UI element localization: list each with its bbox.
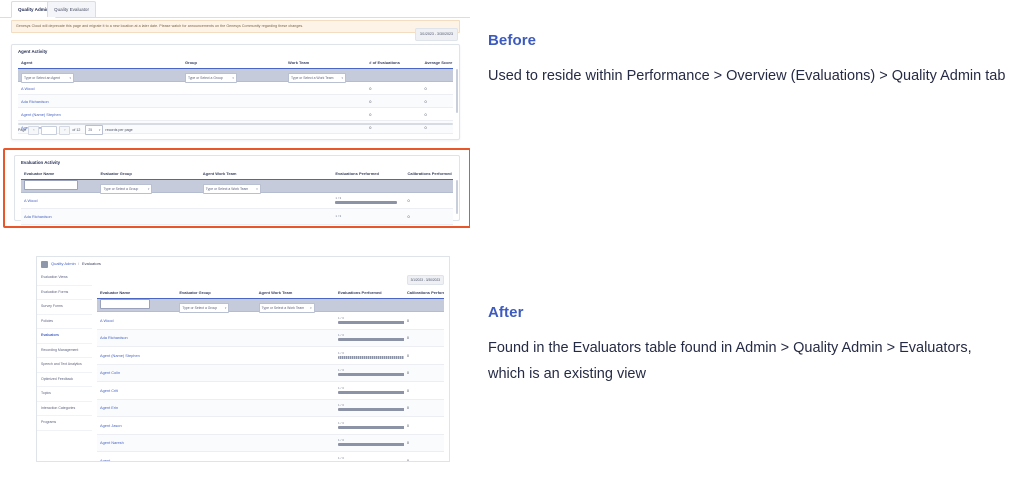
filter-agent-work-team-cell: Type or Select a Work Team ▾: [200, 177, 333, 195]
cell-agent-name[interactable]: Agent (Name) Stephen: [18, 112, 182, 117]
evaluations-value: 1 / 3: [338, 369, 404, 372]
table-row[interactable]: A Wood 1 / 3 0: [21, 193, 453, 209]
evaluations-value: 1 / 3: [338, 352, 404, 355]
col-work-team: Work Team: [285, 60, 366, 65]
progress-bar-fill: [338, 321, 404, 324]
evaluations-progress: 1 / 3: [338, 404, 404, 411]
sidebar-item-recording-management[interactable]: Recording Management: [37, 344, 92, 359]
cell-calibrations-performed: 0: [404, 440, 444, 445]
table-row[interactable]: A Wood 1 / 3 0: [97, 312, 444, 330]
col-agent-work-team: Agent Work Team: [256, 290, 335, 295]
filter-agent-work-team-value: Type or Select a Work Team: [262, 306, 304, 310]
evaluations-value: 1 / 3: [338, 422, 404, 425]
sidebar-item-interaction-categories[interactable]: Interaction Categories: [37, 402, 92, 417]
evaluators-grid: Evaluator Name Evaluator Group Agent Wor…: [97, 287, 444, 462]
filter-agent-value: Type or Select an Agent: [24, 76, 60, 80]
chevron-down-icon: ▾: [341, 76, 343, 80]
filter-work-team-value: Type or Select a Work Team: [291, 76, 333, 80]
annotation-before-body: Used to reside within Performance > Over…: [488, 63, 1005, 89]
cell-evaluator-name[interactable]: Agent Colin: [97, 370, 176, 375]
after-screenshot: Quality Admin / Evaluators Evaluation Vi…: [36, 256, 450, 462]
chevron-down-icon: ▾: [225, 306, 227, 310]
before-screenshot: Quality Admin Quality Evaluator Genesys …: [0, 0, 470, 230]
table-row[interactable]: Agent Naresh 1 / 3 0: [97, 435, 444, 453]
evaluations-progress: 1 / 3: [338, 334, 404, 341]
cell-calibrations-performed: 0: [404, 335, 444, 340]
evaluations-progress: 1 / 3: [338, 422, 404, 429]
evaluations-progress: 1 / 3: [335, 215, 397, 218]
slide-canvas: Quality Admin Quality Evaluator Genesys …: [0, 0, 1024, 496]
date-range-filter[interactable]: 3/1/2023 - 3/30/2023: [415, 28, 458, 41]
progress-bar-fill: [338, 408, 404, 411]
progress-bar-fill: [338, 391, 404, 394]
cell-evaluations: 0: [366, 112, 421, 117]
cell-evaluator-name[interactable]: Agent Criti: [97, 388, 176, 393]
filter-agent-work-team-select[interactable]: Type or Select a Work Team ▾: [259, 303, 315, 313]
annotation-after: After Found in the Evaluators table foun…: [488, 304, 1008, 387]
filter-agent-cell: Type or Select an Agent ▾: [18, 66, 182, 84]
pagination-control: Page ‹ › of 12 25 ▾ records per page: [18, 125, 133, 135]
col-agent: Agent: [18, 60, 182, 65]
sidebar-item-speech-and-text-analytics[interactable]: Speech and Text Analytics: [37, 358, 92, 373]
col-calibrations-performed: Calibrations Performed: [405, 171, 454, 176]
sidebar-item-policies[interactable]: Policies: [37, 315, 92, 330]
cell-average-score: 0: [421, 86, 453, 91]
filter-group-value: Type or Select a Group: [188, 76, 223, 80]
chevron-down-icon: ▾: [69, 76, 71, 80]
cell-evaluator-name[interactable]: Agent Naresh: [97, 440, 176, 445]
agent-activity-title: Agent Activity: [18, 49, 47, 54]
chevron-down-icon: ▾: [256, 187, 258, 191]
page-number-input[interactable]: [41, 126, 57, 135]
filter-work-team-select[interactable]: Type or Select a Work Team ▾: [288, 73, 346, 83]
cell-evaluations-performed: 1 / 3: [335, 422, 404, 429]
page-prev-button[interactable]: ‹: [28, 126, 39, 135]
evaluators-filter-row: Type or Select a Group ▾ Type or Select …: [97, 299, 444, 312]
progress-bar-fill: [338, 373, 404, 376]
evaluations-progress: 1 / 3: [335, 197, 397, 204]
cell-evaluator-name[interactable]: A Wood: [97, 318, 176, 323]
table-row[interactable]: Agent Colin 1 / 3 0: [97, 365, 444, 383]
agent-activity-panel: Agent Activity Agent Group Work Team # o…: [11, 44, 460, 140]
cell-average-score: 0: [421, 99, 453, 104]
evaluation-activity-highlight: Evaluation Activity Evaluator Name Evalu…: [3, 148, 470, 228]
evaluator-name-input[interactable]: [24, 180, 78, 190]
cell-evaluations-performed: 1 / 3: [335, 439, 404, 446]
filter-agent-work-team-value: Type or Select a Work Team: [206, 187, 248, 191]
col-evaluator-name: Evaluator Name: [97, 290, 176, 295]
cell-evaluator-name[interactable]: Agent Jason: [97, 423, 176, 428]
vertical-scrollbar[interactable]: [456, 69, 458, 113]
page-size-select[interactable]: 25 ▾: [85, 125, 103, 135]
evaluations-progress: 1 / 3: [338, 387, 404, 394]
col-evaluator-group: Evaluator Group: [97, 171, 199, 176]
filter-evaluator-group-select[interactable]: Type or Select a Group ▾: [100, 184, 152, 194]
filter-evaluator-group-cell: Type or Select a Group ▾: [176, 296, 255, 314]
cell-evaluator-name[interactable]: Agent (Name) Stephen: [97, 353, 176, 358]
app-header-bar: Quality Admin / Evaluators: [37, 257, 449, 272]
page-size-value: 25: [88, 128, 92, 132]
filter-work-team-cell: Type or Select a Work Team ▾: [285, 66, 366, 84]
cell-calibrations-performed: 0: [404, 353, 444, 358]
evaluations-progress: 1 / 3: [338, 317, 404, 324]
table-row[interactable]: Agent Criti 1 / 3 0: [97, 382, 444, 400]
page-next-button[interactable]: ›: [59, 126, 70, 135]
page-size-label: records per page: [105, 128, 132, 132]
col-agent-work-team: Agent Work Team: [200, 171, 333, 176]
evaluation-activity-title: Evaluation Activity: [21, 160, 60, 165]
breadcrumb-separator: /: [78, 261, 79, 266]
sidebar-item-optimized-feedback[interactable]: Optimized Feedback: [37, 373, 92, 388]
evaluations-value: 1 / 3: [338, 387, 404, 390]
evaluations-progress: 1 / 3: [338, 457, 404, 462]
cell-evaluations-performed: 1 / 3: [335, 387, 404, 394]
progress-bar-fill: [338, 426, 404, 429]
sidebar-item-programs[interactable]: Programs: [37, 416, 92, 431]
evaluations-value: 1 / 3: [335, 197, 397, 200]
filter-group-select[interactable]: Type or Select a Group ▾: [185, 73, 237, 83]
sidebar-item-evaluation-forms[interactable]: Evaluation Forms: [37, 286, 92, 301]
pagination-label: Page: [18, 128, 26, 132]
page-total-label: of 12: [72, 128, 80, 132]
evaluations-value: 1 / 3: [335, 215, 397, 218]
evaluations-progress: 1 / 3: [338, 369, 404, 376]
chevron-down-icon: ▾: [310, 306, 312, 310]
agent-activity-filter-row: Type or Select an Agent ▾ Type or Select…: [18, 69, 453, 82]
cell-evaluations-performed: 1 / 3: [335, 404, 404, 411]
progress-bar-fill: [335, 201, 397, 204]
deprecation-notice-text: Genesys Cloud will deprecate this page a…: [16, 24, 303, 28]
deprecation-notice-banner: Genesys Cloud will deprecate this page a…: [11, 20, 460, 33]
evaluation-activity-filter-row: Type or Select a Group ▾ Type or Select …: [21, 180, 453, 193]
col-average-score: Average Score: [421, 60, 453, 65]
filter-evaluator-name-cell: [97, 296, 176, 314]
filter-evaluator-name-cell: [21, 177, 97, 195]
vertical-scrollbar[interactable]: [456, 180, 458, 214]
table-row[interactable]: Agent (Name) Stephen 0 0: [18, 108, 453, 121]
sidebar-item-survey-forms[interactable]: Survey Forms: [37, 300, 92, 315]
cell-evaluations: 0: [366, 125, 421, 130]
filter-evaluator-group-select[interactable]: Type or Select a Group ▾: [179, 303, 229, 313]
table-row[interactable]: Ada Richardson 0 0: [18, 95, 453, 108]
cell-evaluations-performed: 1 / 3: [335, 334, 404, 341]
breadcrumb-current: Evaluators: [82, 261, 101, 266]
chevron-down-icon: ▾: [148, 187, 150, 191]
app-grid-icon[interactable]: [41, 261, 48, 268]
cell-evaluations-performed: 1 / 3: [332, 197, 404, 204]
cell-evaluations-performed: 1 / 3: [335, 457, 404, 462]
evaluation-activity-grid: Evaluator Name Evaluator Group Agent Wor…: [21, 168, 453, 225]
cell-evaluator-name[interactable]: Agent: [97, 458, 176, 462]
cell-evaluations-performed: 1 / 3: [332, 215, 404, 218]
evaluations-progress: 1 / 3: [338, 352, 404, 359]
cell-evaluations-performed: 1 / 3: [335, 352, 404, 359]
annotation-before-title: Before: [488, 32, 1005, 49]
cell-calibrations-performed: 0: [405, 198, 454, 203]
table-row[interactable]: Ada Richardson 1 / 3 0: [21, 209, 453, 225]
col-evaluator-name: Evaluator Name: [21, 171, 97, 176]
col-evaluations-performed: Evaluations Performed: [332, 171, 404, 176]
table-row[interactable]: Agent Erin 1 / 3 0: [97, 400, 444, 418]
evaluators-rows: A Wood 1 / 3 0 Ada Richardson: [97, 312, 444, 462]
col-num-evaluations: # of Evaluations: [366, 60, 421, 65]
admin-sidebar: Evaluation Views Evaluation Forms Survey…: [37, 271, 93, 461]
evaluations-value: 1 / 3: [338, 457, 404, 460]
cell-evaluations: 0: [366, 86, 421, 91]
cell-calibrations-performed: 0: [404, 405, 444, 410]
table-row[interactable]: Agent (Name) Stephen 1 / 3 0: [97, 347, 444, 365]
evaluators-content: 3/1/2023 - 3/30/2023 Evaluator Name Eval…: [92, 271, 449, 461]
evaluations-progress: 1 / 3: [338, 439, 404, 446]
table-row[interactable]: Agent Jason 1 / 3 0: [97, 417, 444, 435]
cell-agent-name[interactable]: A Wood: [18, 86, 182, 91]
cell-evaluations-performed: 1 / 3: [335, 317, 404, 324]
evaluations-value: 1 / 3: [338, 317, 404, 320]
evaluations-value: 1 / 3: [338, 334, 404, 337]
cell-calibrations-performed: 0: [405, 214, 454, 219]
progress-bar-fill: [338, 461, 392, 462]
cell-average-score: 0: [421, 112, 453, 117]
sidebar-item-topics[interactable]: Topics: [37, 387, 92, 402]
cell-average-score: 0: [421, 125, 453, 130]
cell-evaluations-performed: 1 / 3: [335, 369, 404, 376]
date-range-filter[interactable]: 3/1/2023 - 3/30/2023: [407, 275, 444, 285]
cell-evaluations: 0: [366, 99, 421, 104]
sidebar-item-evaluation-views[interactable]: Evaluation Views: [37, 271, 92, 286]
annotation-after-title: After: [488, 304, 1008, 321]
filter-group-cell: Type or Select a Group ▾: [182, 66, 285, 84]
cell-agent-name[interactable]: Ada Richardson: [18, 99, 182, 104]
cell-calibrations-performed: 0: [404, 388, 444, 393]
col-evaluations-performed: Evaluations Performed: [335, 290, 404, 295]
chevron-down-icon: ▾: [99, 128, 101, 132]
cell-calibrations-performed: 0: [404, 423, 444, 428]
cell-evaluator-name[interactable]: Ada Richardson: [21, 214, 97, 219]
col-group: Group: [182, 60, 285, 65]
cell-calibrations-performed: 0: [404, 370, 444, 375]
filter-evaluator-group-value: Type or Select a Group: [103, 187, 138, 191]
filter-agent-select[interactable]: Type or Select an Agent ▾: [21, 73, 74, 83]
evaluations-value: 1 / 3: [338, 439, 404, 442]
sidebar-item-evaluators[interactable]: Evaluators: [37, 329, 92, 344]
progress-bar-fill: [338, 338, 404, 341]
cell-calibrations-performed: 0: [404, 458, 444, 462]
chevron-down-icon: ▾: [232, 76, 234, 80]
evaluations-value: 1 / 3: [338, 404, 404, 407]
annotation-after-body: Found in the Evaluators table found in A…: [488, 335, 1008, 387]
tab-bar: Quality Admin Quality Evaluator: [0, 0, 470, 18]
progress-bar-fill: [338, 443, 404, 446]
tab-quality-evaluator[interactable]: Quality Evaluator: [47, 1, 96, 17]
filter-agent-work-team-select[interactable]: Type or Select a Work Team ▾: [203, 184, 261, 194]
evaluation-activity-panel: Evaluation Activity Evaluator Name Evalu…: [14, 155, 460, 221]
col-evaluator-group: Evaluator Group: [176, 290, 255, 295]
filter-evaluator-group-value: Type or Select a Group: [182, 306, 217, 310]
col-calibrations-performed: Calibrations Performed: [404, 290, 444, 295]
table-row[interactable]: Agent 1 / 3 0: [97, 452, 444, 462]
evaluator-name-input[interactable]: [100, 299, 150, 309]
cell-evaluator-name[interactable]: A Wood: [21, 198, 97, 203]
cell-evaluator-name[interactable]: Ada Richardson: [97, 335, 176, 340]
cell-evaluator-name[interactable]: Agent Erin: [97, 405, 176, 410]
cell-calibrations-performed: 0: [404, 318, 444, 323]
filter-evaluator-group-cell: Type or Select a Group ▾: [97, 177, 199, 195]
table-row[interactable]: Ada Richardson 1 / 3 0: [97, 330, 444, 348]
breadcrumb-root[interactable]: Quality Admin: [51, 261, 76, 266]
progress-bar-fill: [338, 356, 404, 359]
filter-agent-work-team-cell: Type or Select a Work Team ▾: [256, 296, 335, 314]
annotation-before: Before Used to reside within Performance…: [488, 32, 1005, 89]
